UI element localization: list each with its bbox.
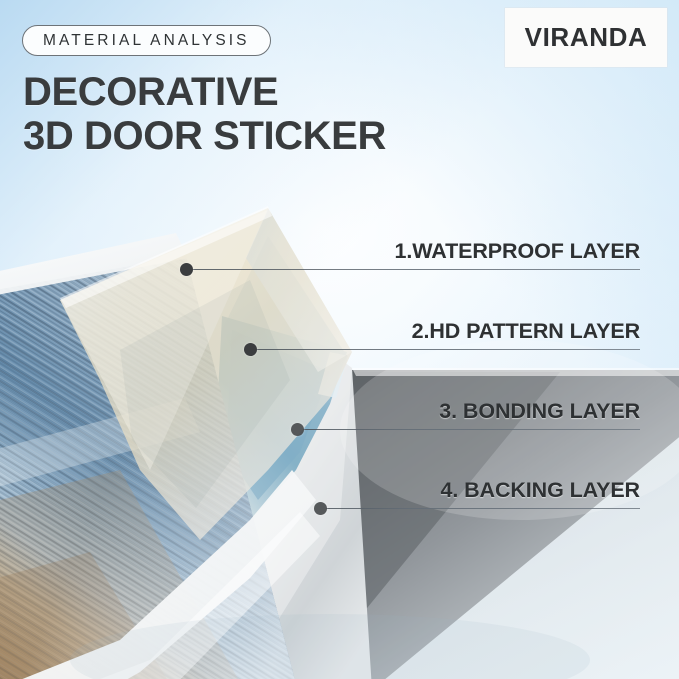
page-title-line-2: 3D DOOR STICKER [23,114,386,158]
callout-dot-waterproof[interactable] [180,263,193,276]
callout-label-backing: 4. BACKING LAYER [440,478,640,503]
callout-label-waterproof: 1.WATERPROOF LAYER [395,239,640,264]
callout-label-bonding: 3. BONDING LAYER [439,399,640,424]
callout-waterproof-layer[interactable]: 1.WATERPROOF LAYER [330,230,640,270]
callout-bonding-layer[interactable]: 3. BONDING LAYER [330,390,640,430]
callout-rule-hd-pattern [330,349,640,350]
callout-label-hd-pattern: 2.HD PATTERN LAYER [412,319,640,344]
page-title: DECORATIVE 3D DOOR STICKER [23,70,386,158]
callout-rule-backing [330,508,640,509]
brand-logo: VIRANDA [505,8,667,67]
callout-rule-waterproof [330,269,640,270]
material-analysis-badge: MATERIAL ANALYSIS [22,25,271,56]
brand-logo-text: VIRANDA [525,22,648,53]
callout-dot-hd-pattern[interactable] [244,343,257,356]
callout-dot-backing[interactable] [314,502,327,515]
callout-dot-bonding[interactable] [291,423,304,436]
page-title-line-1: DECORATIVE [23,70,278,114]
badge-label: MATERIAL ANALYSIS [43,32,250,50]
material-analysis-infographic: 1.WATERPROOF LAYER 2.HD PATTERN LAYER 3.… [0,0,679,679]
callout-backing-layer[interactable]: 4. BACKING LAYER [330,469,640,509]
callout-hd-pattern-layer[interactable]: 2.HD PATTERN LAYER [330,310,640,350]
callout-rule-bonding [330,429,640,430]
